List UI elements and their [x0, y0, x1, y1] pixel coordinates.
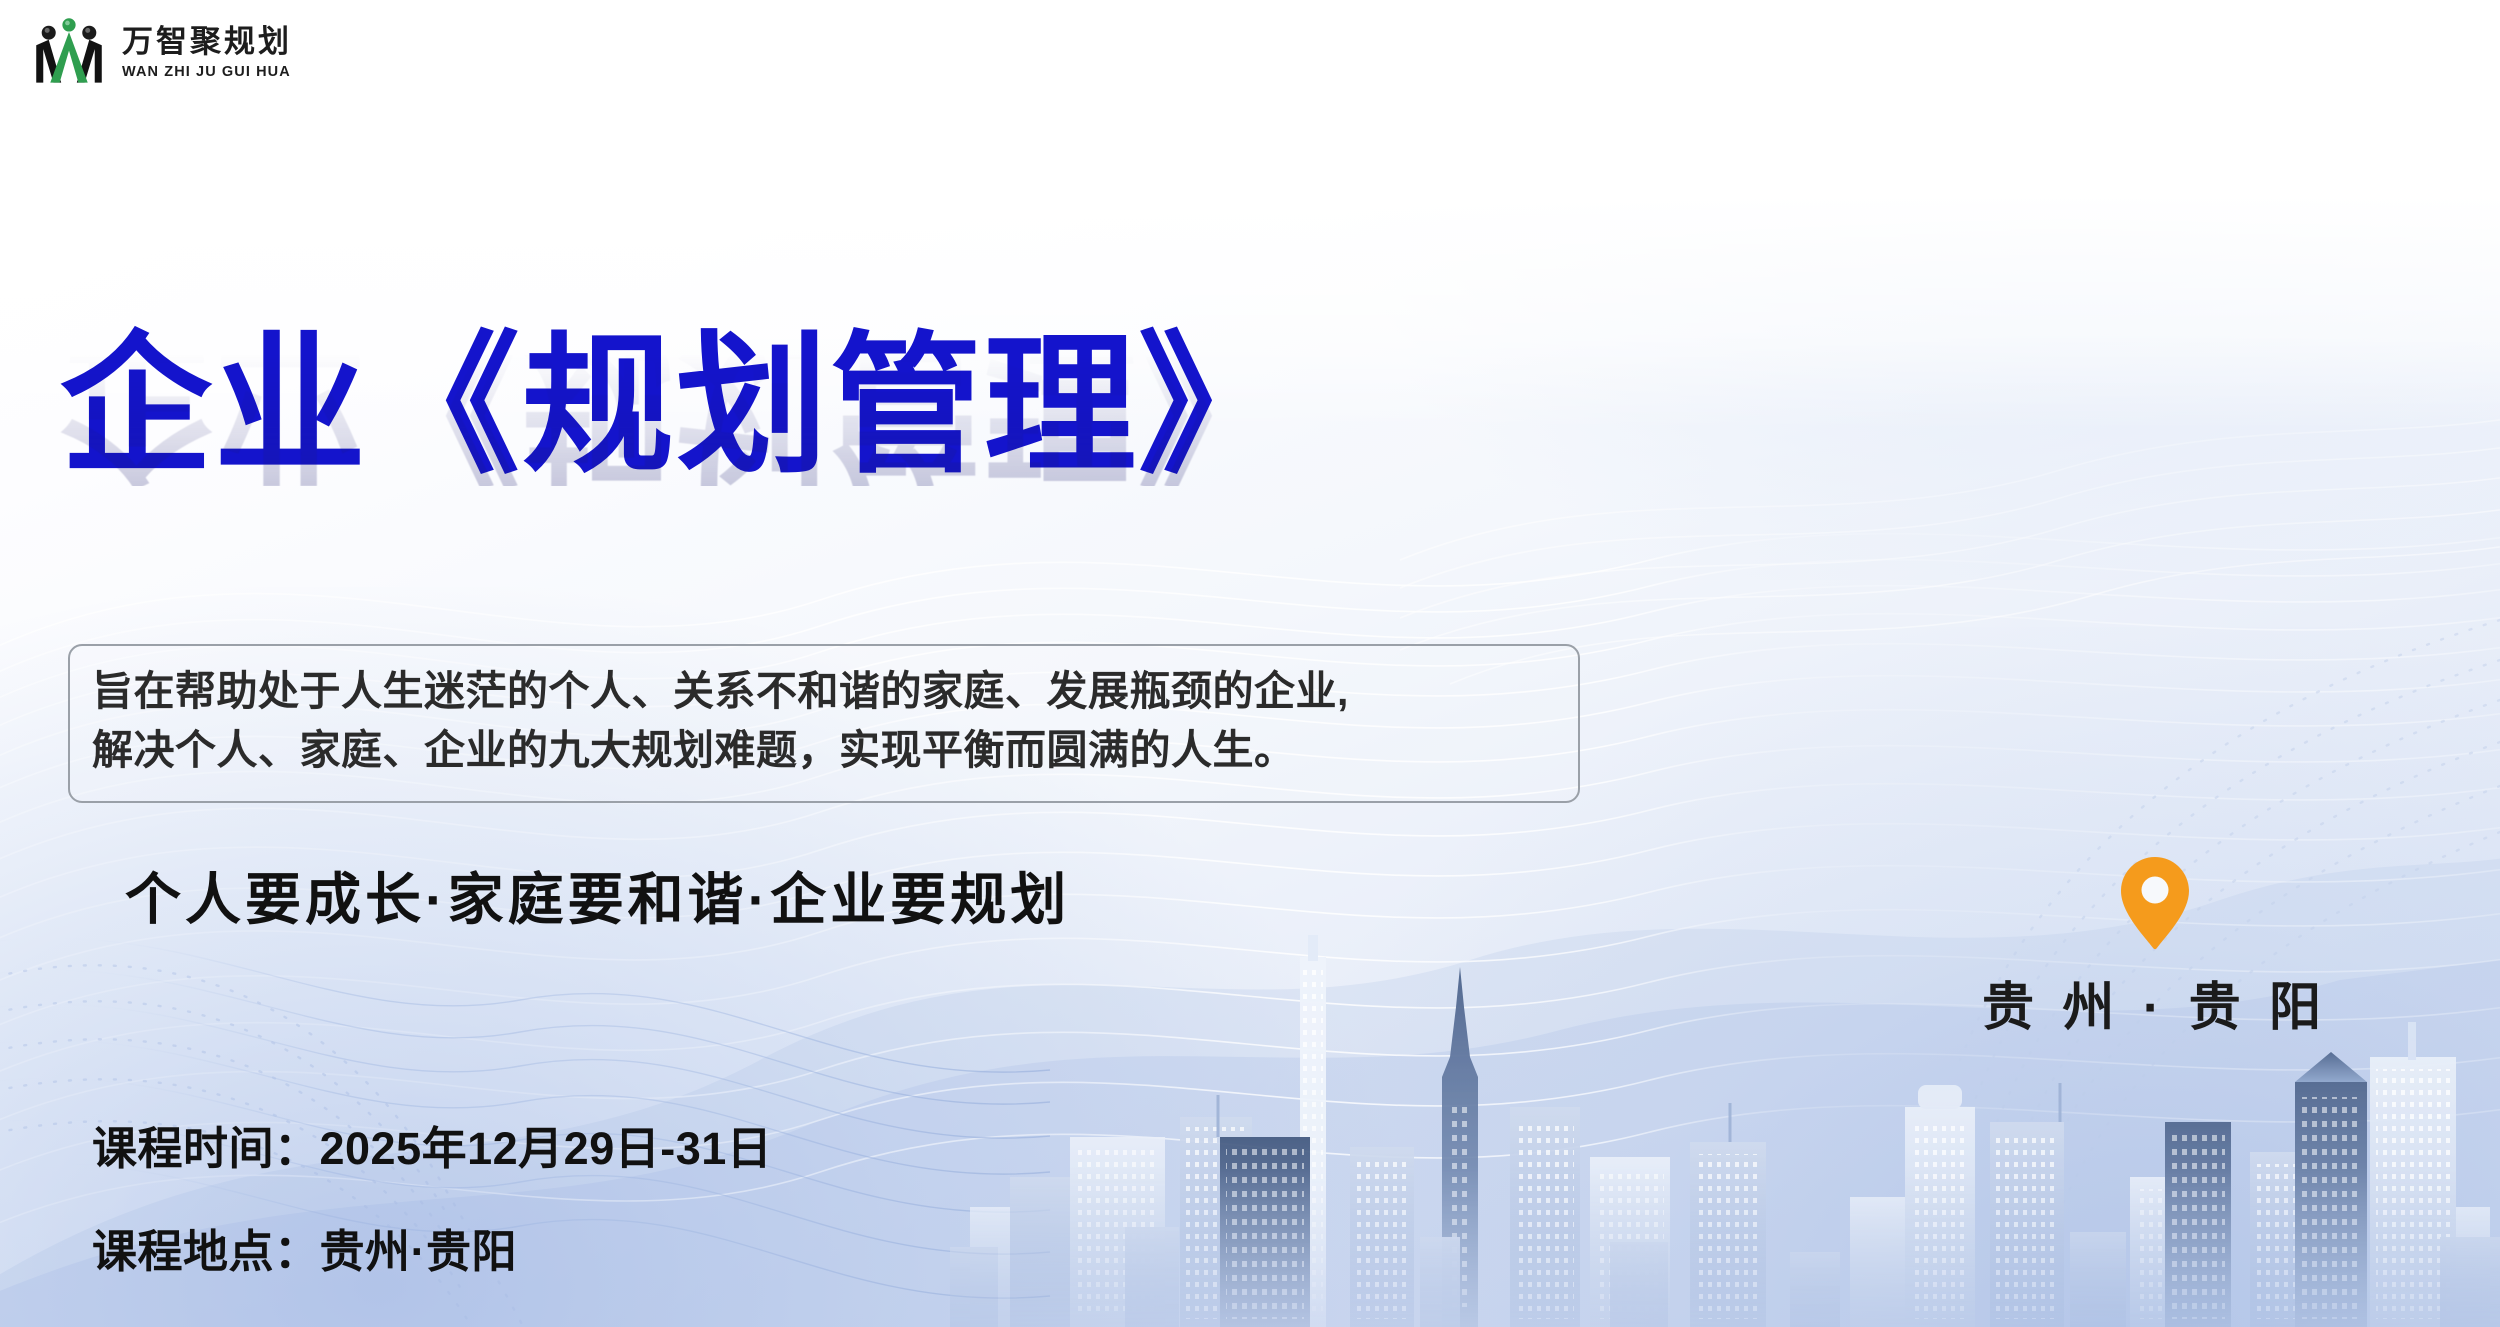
description-box: 旨在帮助处于人生迷茫的个人、关系不和谐的家庭、发展瓶颈的企业, 解决个人、家庭、… — [68, 644, 1580, 803]
page-title-reflection: 企业《规划管理》 — [60, 334, 1620, 486]
hero-title-block: 企业《规划管理》 企业《规划管理》 — [60, 330, 1620, 638]
description-line-1: 旨在帮助处于人生迷茫的个人、关系不和谐的家庭、发展瓶颈的企业, — [92, 662, 1558, 721]
promotional-banner: 万智聚规划 WAN ZHI JU GUI HUA 企业《规划管理》 企业《规划管… — [0, 0, 2500, 1327]
course-time: 课程时间：2025年12月29日-31日 — [92, 1112, 772, 1177]
location-label: 贵 州 · 贵 阳 — [1955, 965, 2355, 1040]
course-place: 课程地点：贵州·贵阳 — [92, 1215, 772, 1280]
course-info-block: 课程时间：2025年12月29日-31日 课程地点：贵州·贵阳 — [92, 1112, 772, 1280]
hero-tagline: 个人要成长·家庭要和谐·企业要规划 — [125, 855, 1070, 936]
location-block: 贵 州 · 贵 阳 — [1955, 855, 2355, 1040]
brand-name-en: WAN ZHI JU GUI HUA — [122, 63, 292, 81]
brand-logo-text: 万智聚规划 WAN ZHI JU GUI HUA — [122, 25, 292, 81]
brand-logo[interactable]: 万智聚规划 WAN ZHI JU GUI HUA — [30, 14, 292, 92]
three-people-logo-icon — [30, 14, 108, 92]
brand-name-cn: 万智聚规划 — [122, 25, 292, 60]
map-pin-icon — [2117, 855, 2193, 951]
description-line-2: 解决个人、家庭、企业的九大规划难题，实现平衡而圆满的人生。 — [92, 721, 1558, 780]
